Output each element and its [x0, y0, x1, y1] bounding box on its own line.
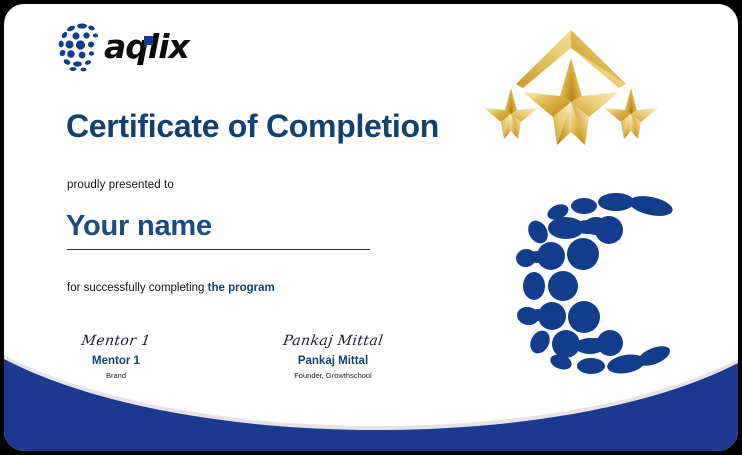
- completion-prefix: for successfully completing: [67, 282, 208, 294]
- program-name: the program: [208, 282, 275, 294]
- signature-block-right: Pankaj Mittal Pankaj Mittal Founder, Gro…: [258, 334, 408, 380]
- signature-script-right: Pankaj Mittal: [257, 334, 409, 349]
- signature-role-right: Founder, Growthschool: [258, 371, 408, 380]
- dotted-globe-icon: [56, 20, 108, 72]
- signature-block-left: Mentor 1 Mentor 1 Brand: [41, 334, 191, 380]
- signature-script-left: Mentor 1: [40, 334, 192, 349]
- three-gold-stars-icon: [476, 22, 666, 148]
- signature-name-right: Pankaj Mittal: [258, 355, 408, 367]
- completion-statement: for successfully completing the program: [67, 282, 275, 294]
- brand-wordmark: aqlix: [104, 30, 189, 63]
- brand-logo: aqlix: [56, 18, 226, 74]
- screenshot-canvas: aqlix: [0, 0, 742, 455]
- brand-accent-square: [144, 36, 153, 45]
- dotted-c-logo-icon: [496, 186, 688, 378]
- recipient-name: Your name: [66, 210, 212, 243]
- presented-to-label: proudly presented to: [67, 179, 174, 191]
- signature-role-left: Brand: [41, 371, 191, 380]
- page-title: Certificate of Completion: [66, 108, 439, 145]
- recipient-name-rule: [67, 249, 370, 250]
- certificate-card: aqlix: [4, 4, 738, 451]
- signature-name-left: Mentor 1: [41, 355, 191, 367]
